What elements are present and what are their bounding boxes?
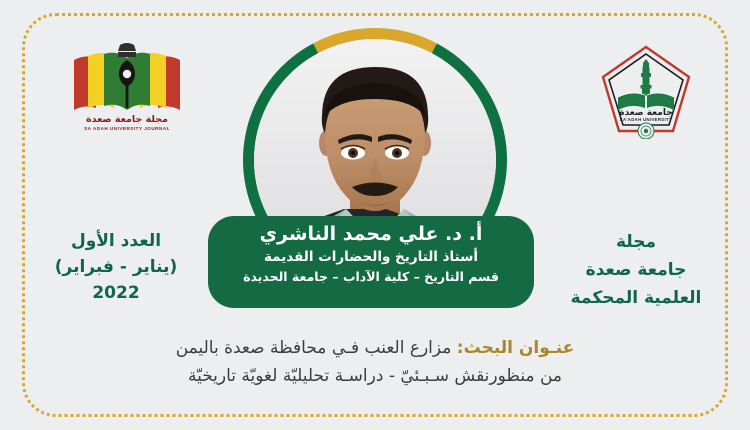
author-name-banner: أ. د. علي محمد الناشري أستاذ التاريخ وال… — [208, 216, 534, 308]
journal-logo: مجلة جامعة صعدة SA ADAH UNIVERSITY JOURN… — [66, 42, 188, 134]
author-role: أستاذ التاريخ والحضارات القديمة — [208, 247, 534, 267]
svg-text:1421هـ - 2000م: 1421هـ - 2000م — [631, 101, 662, 106]
university-seal: 1421هـ - 2000م جامعة صعدة SA'ADAH UNIVER… — [598, 43, 694, 139]
author-name: أ. د. علي محمد الناشري — [208, 221, 534, 247]
research-title: عنـوان البحث: مزارع العنب فـي محافظة صعد… — [80, 334, 670, 390]
svg-text:SA ADAH UNIVERSITY JOURNAL: SA ADAH UNIVERSITY JOURNAL — [84, 126, 170, 131]
journal-cover-card: مجلة جامعة صعدة SA ADAH UNIVERSITY JOURN… — [0, 0, 750, 430]
research-title-label: عنـوان البحث: — [457, 338, 574, 358]
research-title-line-2: من منظورنقش سـبـئيّ - دراسـة تحليليّة لغ… — [80, 362, 670, 390]
journal-title-line-1: مجلة — [548, 228, 724, 256]
journal-title: مجلة جامعة صعدة العلمية المحكمة — [548, 228, 724, 312]
research-title-line-1: عنـوان البحث: مزارع العنب فـي محافظة صعد… — [80, 334, 670, 362]
svg-text:مجلة جامعة صعدة: مجلة جامعة صعدة — [86, 114, 168, 125]
issue-number: العدد الأول — [36, 228, 196, 254]
journal-title-line-3: العلمية المحكمة — [548, 284, 724, 312]
issue-months: (يناير - فبراير) — [36, 254, 196, 280]
research-title-text: مزارع العنب فـي محافظة صعدة باليمن — [176, 338, 457, 358]
journal-title-line-2: جامعة صعدة — [548, 256, 724, 284]
issue-year: 2022 — [36, 280, 196, 306]
svg-text:SA'ADAH UNIVERSITY: SA'ADAH UNIVERSITY — [620, 117, 672, 122]
author-department: قسم التاريخ – كلية الآداب – جامعة الحديد… — [208, 267, 534, 286]
issue-info: العدد الأول (يناير - فبراير) 2022 — [36, 228, 196, 306]
